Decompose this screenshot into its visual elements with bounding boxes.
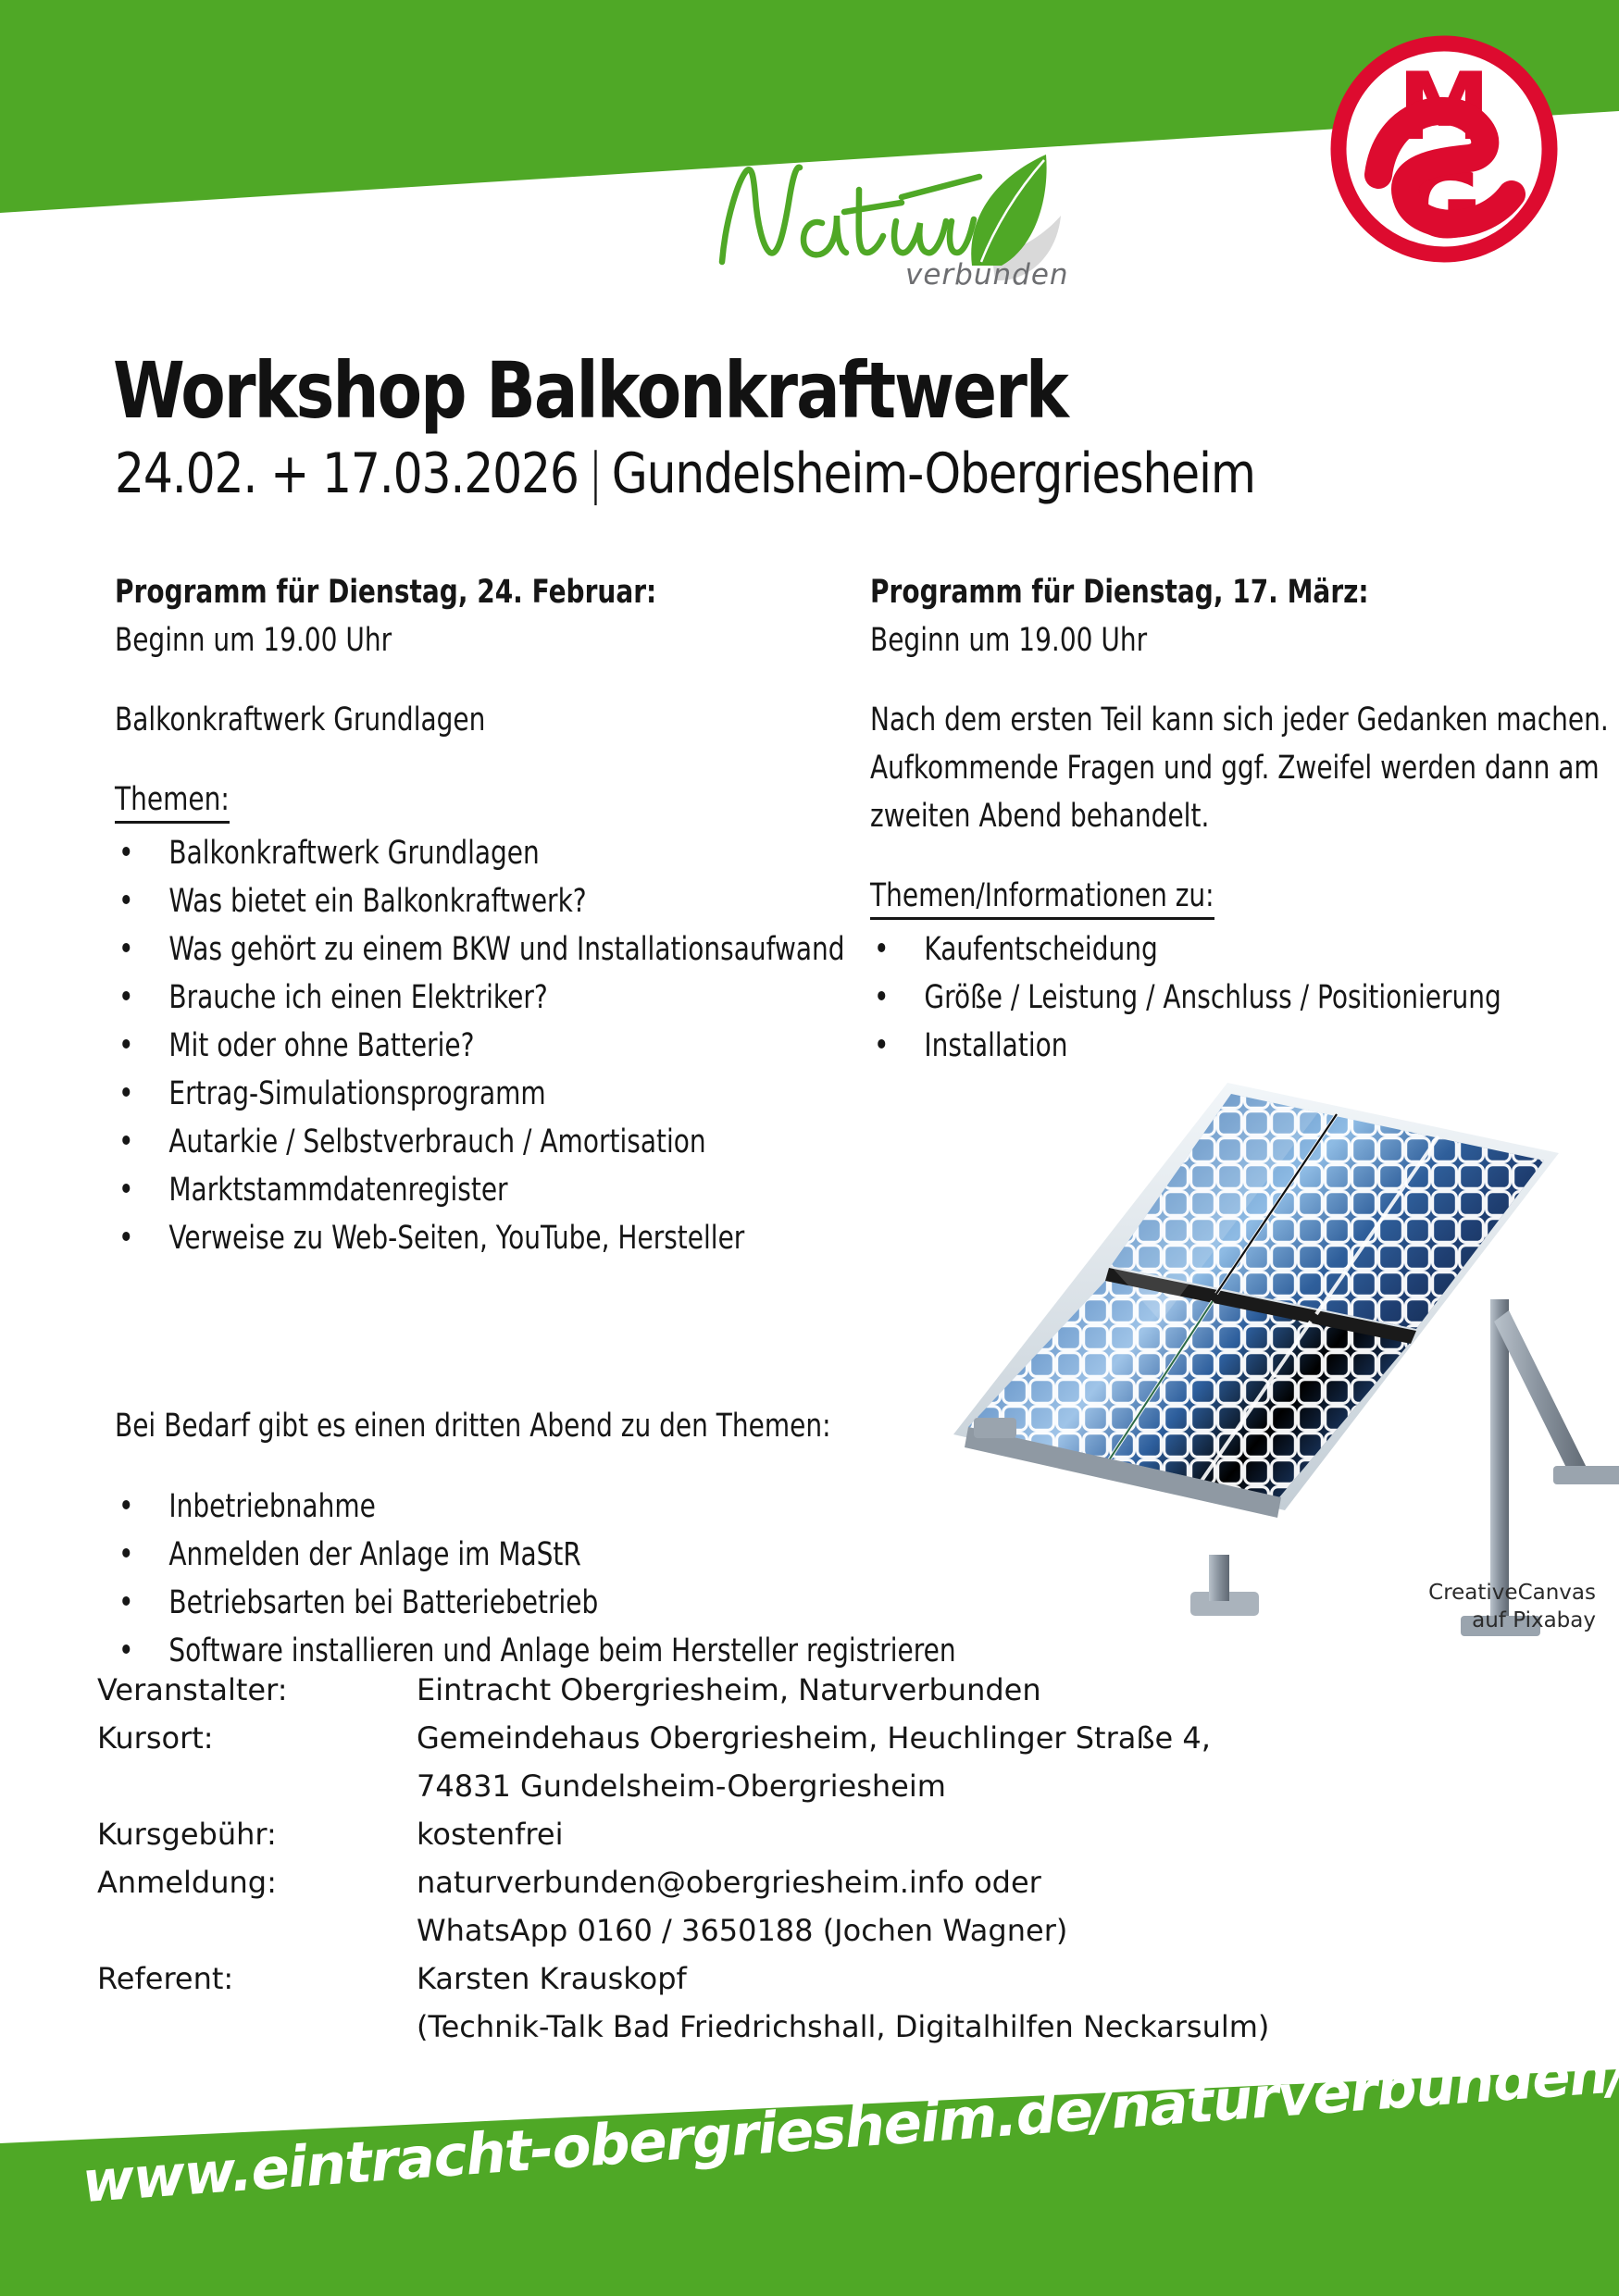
bullet-icon: • — [118, 1022, 134, 1070]
list-item: •Autarkie / Selbstverbrauch / Amortisati… — [115, 1118, 855, 1166]
topics-label: Themen/Informationen zu: — [870, 872, 1611, 920]
list-item: •Kaufentscheidung — [870, 925, 1611, 974]
subtitle-dates: 24.02. + 17.03.2026 — [115, 441, 579, 506]
detail-value: Eintracht Obergriesheim, Naturverbunden — [417, 1666, 1541, 1714]
detail-value-line: Karsten Krauskopf — [417, 1955, 1541, 2003]
msg-club-logo: M G — [1330, 35, 1558, 263]
detail-label: Kursort: — [97, 1714, 417, 1762]
program-heading: Programm für Dienstag, 24. Februar: — [115, 568, 855, 616]
list-item-label: Software installieren und Anlage beim He… — [168, 1632, 955, 1669]
list-item: •Brauche ich einen Elektriker? — [115, 974, 855, 1022]
table-row: Veranstalter: Eintracht Obergriesheim, N… — [97, 1666, 1541, 1714]
bullet-icon: • — [118, 1166, 134, 1214]
program-start-time: Beginn um 19.00 Uhr — [115, 616, 855, 664]
program-start-time: Beginn um 19.00 Uhr — [870, 616, 1611, 664]
third-evening-heading: Bei Bedarf gibt es einen dritten Abend z… — [115, 1402, 1077, 1450]
bullet-icon: • — [118, 1070, 134, 1118]
detail-value-line: (Technik-Talk Bad Friedrichshall, Digita… — [417, 2003, 1541, 2051]
image-credit-source: auf Pixabay — [1411, 1607, 1596, 1634]
list-item-label: Ertrag-Simulationsprogramm — [168, 1075, 545, 1112]
detail-label: Veranstalter: — [97, 1666, 417, 1714]
third-evening-list: •Inbetriebnahme •Anmelden der Anlage im … — [115, 1483, 1077, 1675]
detail-label: Kursgebühr: — [97, 1810, 417, 1858]
detail-label: Referent: — [97, 1955, 417, 2003]
bullet-icon: • — [874, 925, 890, 974]
table-row: Kursgebühr: kostenfrei — [97, 1810, 1541, 1858]
detail-value: kostenfrei — [417, 1810, 1541, 1858]
detail-value-line: WhatsApp 0160 / 3650188 (Jochen Wagner) — [417, 1906, 1541, 1955]
list-item: •Installation — [870, 1022, 1611, 1070]
spacer — [870, 840, 1611, 872]
list-item: •Anmelden der Anlage im MaStR — [115, 1531, 1077, 1579]
topics-label: Themen: — [115, 776, 855, 824]
bullet-icon: • — [118, 1579, 134, 1627]
spacer — [870, 664, 1611, 696]
program-column-second: Programm für Dienstag, 17. März: Beginn … — [870, 568, 1611, 1070]
list-item-label: Balkonkraftwerk Grundlagen — [168, 835, 539, 872]
list-item-label: Was bietet ein Balkonkraftwerk? — [168, 883, 586, 920]
detail-value: Karsten Krauskopf (Technik-Talk Bad Frie… — [417, 1955, 1541, 2051]
list-item-label: Inbetriebnahme — [168, 1488, 375, 1525]
list-item: •Marktstammdatenregister — [115, 1166, 855, 1214]
bullet-icon: • — [874, 974, 890, 1022]
list-item: •Betriebsarten bei Batteriebetrieb — [115, 1579, 1077, 1627]
list-item-label: Was gehört zu einem BKW und Installation… — [168, 931, 844, 968]
list-item: •Ertrag-Simulationsprogramm — [115, 1070, 855, 1118]
list-item-label: Betriebsarten bei Batteriebetrieb — [168, 1584, 598, 1621]
solar-panel-illustration — [942, 1074, 1619, 1657]
image-credit-author: CreativeCanvas — [1411, 1579, 1596, 1607]
detail-value-line: Gemeindehaus Obergriesheim, Heuchlinger … — [417, 1714, 1541, 1762]
program-intro-line: Aufkommende Fragen und ggf. Zweifel werd… — [870, 744, 1611, 840]
bullet-icon: • — [118, 1483, 134, 1531]
list-item: •Verweise zu Web-Seiten, YouTube, Herste… — [115, 1214, 855, 1262]
list-item: •Was gehört zu einem BKW und Installatio… — [115, 925, 855, 974]
svg-text:verbunden: verbunden — [905, 258, 1069, 292]
detail-value-line: 74831 Gundelsheim-Obergriesheim — [417, 1762, 1541, 1810]
bullet-icon: • — [874, 1022, 890, 1070]
bullet-icon: • — [118, 925, 134, 974]
table-row: Kursort: Gemeindehaus Obergriesheim, Heu… — [97, 1714, 1541, 1810]
program-intro-line: Balkonkraftwerk Grundlagen — [115, 696, 855, 744]
page-title: Workshop Balkonkraftwerk — [113, 350, 1067, 431]
detail-value-line: Eintracht Obergriesheim, Naturverbunden — [417, 1666, 1541, 1714]
detail-label: Anmeldung: — [97, 1858, 417, 1906]
list-item-label: Anmelden der Anlage im MaStR — [168, 1536, 580, 1573]
detail-value-line: kostenfrei — [417, 1810, 1541, 1858]
event-details: Veranstalter: Eintracht Obergriesheim, N… — [97, 1666, 1541, 2051]
table-row: Anmeldung: naturverbunden@obergriesheim.… — [97, 1858, 1541, 1955]
page-subtitle: 24.02. + 17.03.2026|Gundelsheim-Obergrie… — [115, 444, 1255, 503]
detail-value: Gemeindehaus Obergriesheim, Heuchlinger … — [417, 1714, 1541, 1810]
list-item: •Inbetriebnahme — [115, 1483, 1077, 1531]
bullet-icon: • — [118, 974, 134, 1022]
list-item-label: Mit oder ohne Batterie? — [168, 1027, 474, 1064]
bullet-icon: • — [118, 1214, 134, 1262]
list-item-label: Verweise zu Web-Seiten, YouTube, Herstel… — [168, 1220, 744, 1257]
naturverbunden-logo: verbunden — [704, 143, 1111, 292]
bullet-icon: • — [118, 1118, 134, 1166]
bullet-icon: • — [118, 1531, 134, 1579]
program-intro-line: Nach dem ersten Teil kann sich jeder Ged… — [870, 696, 1611, 744]
spacer — [115, 664, 855, 696]
list-item-label: Installation — [924, 1027, 1067, 1064]
list-item-label: Brauche ich einen Elektriker? — [168, 979, 547, 1016]
spacer — [115, 744, 855, 776]
list-item-label: Kaufentscheidung — [924, 931, 1157, 968]
third-evening-block: Bei Bedarf gibt es einen dritten Abend z… — [115, 1370, 1077, 1675]
program-column-first: Programm für Dienstag, 24. Februar: Begi… — [115, 568, 855, 1262]
list-item-label: Größe / Leistung / Anschluss / Positioni… — [924, 979, 1501, 1016]
topics-list: •Kaufentscheidung •Größe / Leistung / An… — [870, 925, 1611, 1070]
image-credit: CreativeCanvas auf Pixabay — [1411, 1579, 1596, 1634]
list-item: •Was bietet ein Balkonkraftwerk? — [115, 877, 855, 925]
subtitle-place: Gundelsheim-Obergriesheim — [612, 441, 1255, 506]
list-item: •Balkonkraftwerk Grundlagen — [115, 829, 855, 877]
table-row: Referent: Karsten Krauskopf (Technik-Tal… — [97, 1955, 1541, 2051]
subtitle-separator: | — [579, 441, 612, 506]
bullet-icon: • — [118, 829, 134, 877]
list-item: •Größe / Leistung / Anschluss / Position… — [870, 974, 1611, 1022]
bullet-icon: • — [118, 877, 134, 925]
detail-value: naturverbunden@obergriesheim.info oder W… — [417, 1858, 1541, 1955]
list-item: •Mit oder ohne Batterie? — [115, 1022, 855, 1070]
topics-list: •Balkonkraftwerk Grundlagen •Was bietet … — [115, 829, 855, 1262]
program-heading: Programm für Dienstag, 17. März: — [870, 568, 1611, 616]
list-item-label: Autarkie / Selbstverbrauch / Amortisatio… — [168, 1123, 705, 1160]
list-item-label: Marktstammdatenregister — [168, 1172, 507, 1209]
detail-value-line: naturverbunden@obergriesheim.info oder — [417, 1858, 1541, 1906]
